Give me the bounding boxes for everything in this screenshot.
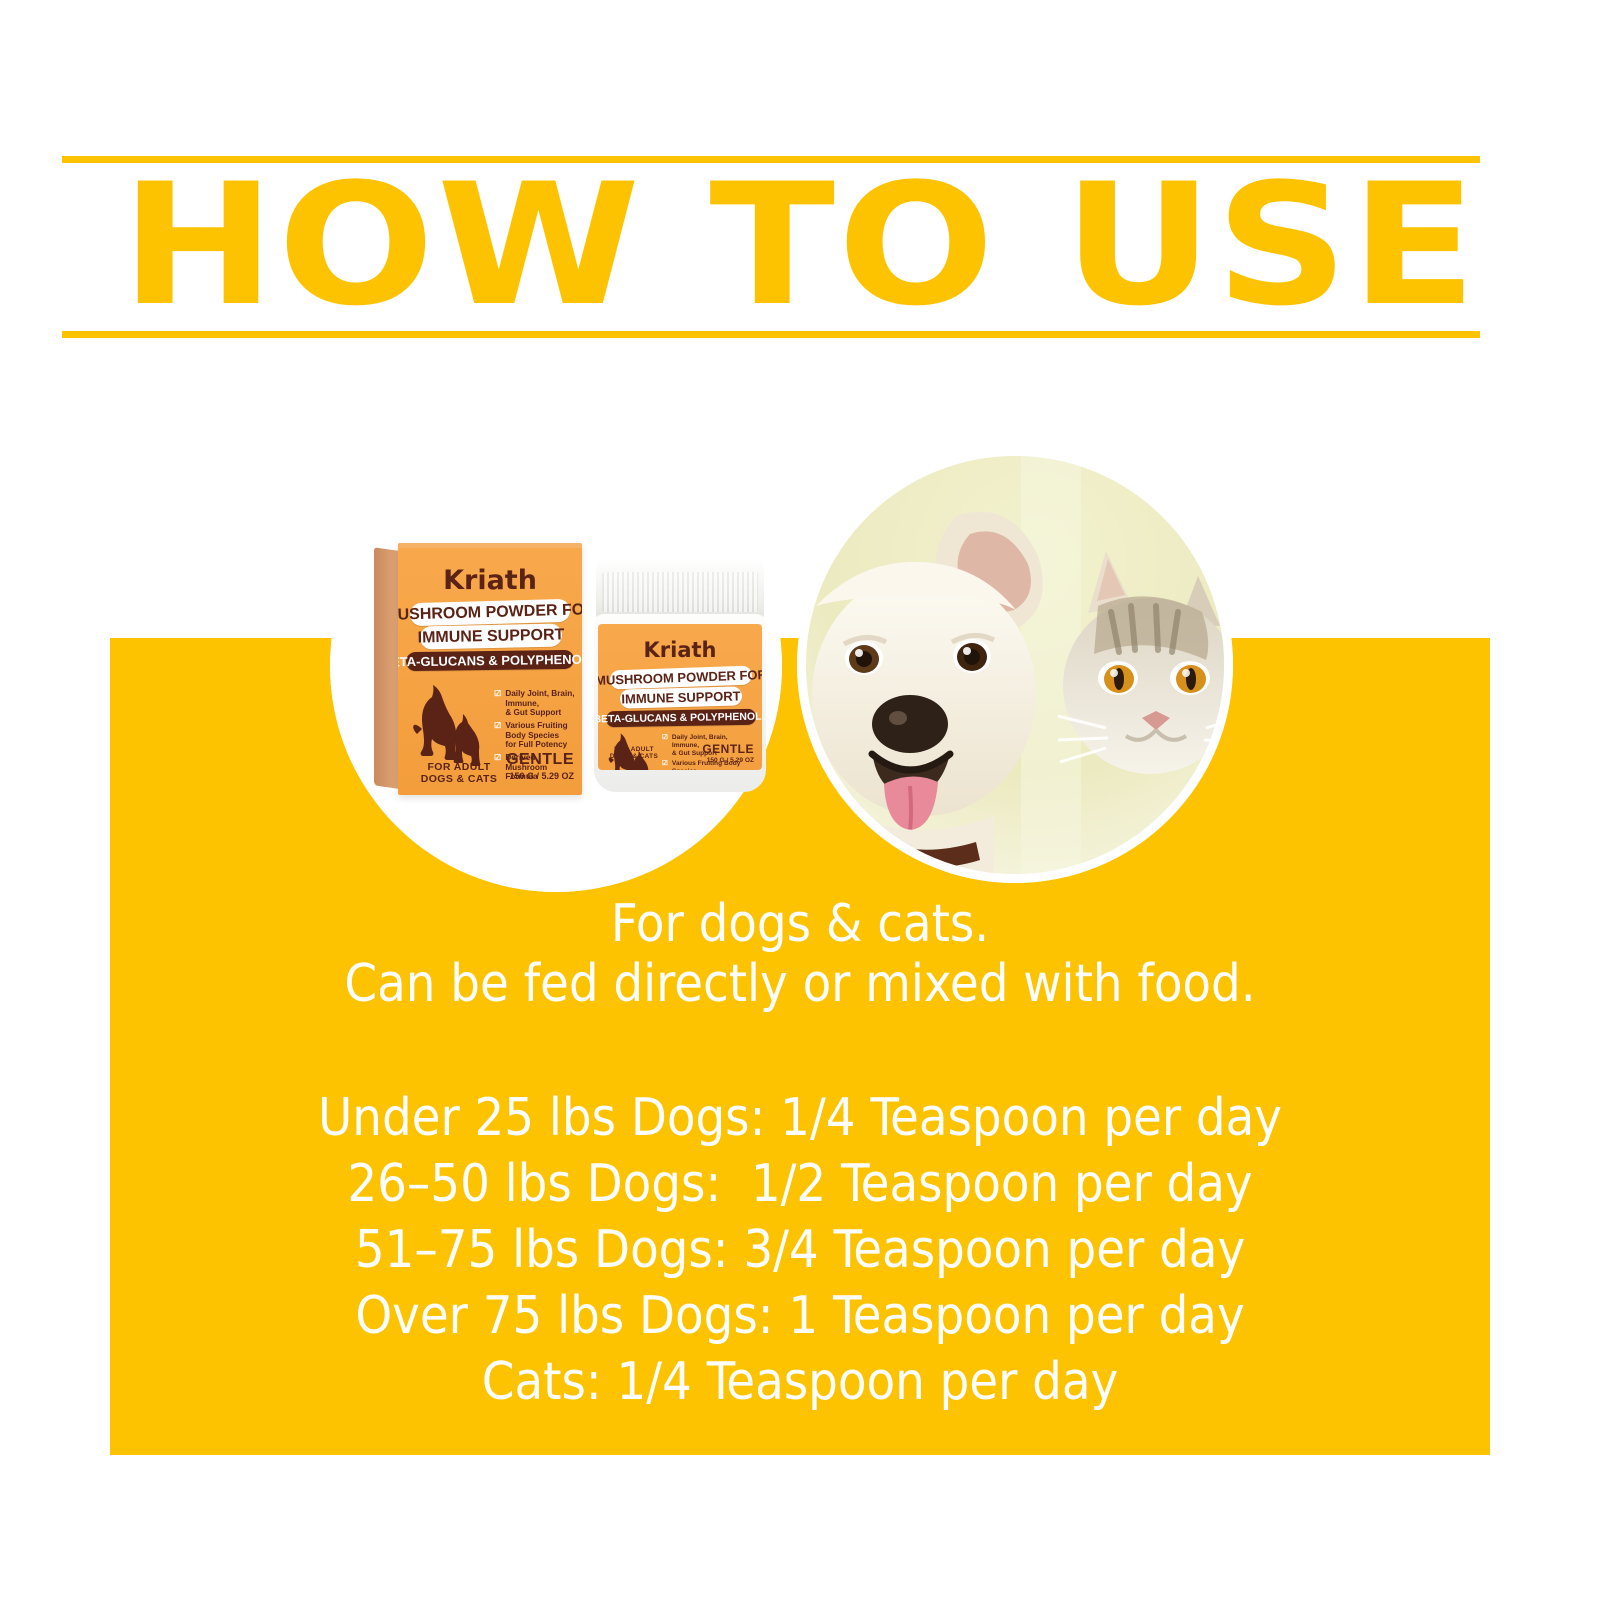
- box-net-weight: 150 G / 5.29 OZ: [482, 771, 574, 781]
- jar-gentle-badge: GENTLE: [670, 742, 754, 756]
- jar-brand-name: Kriath: [598, 638, 762, 662]
- dosage-item-2: 51–75 lbs Dogs: 3/4 Teaspoon per day: [110, 1217, 1490, 1283]
- product-box: Kriath MUSHROOM POWDER FOR IMMUNE SUPPOR…: [374, 543, 582, 795]
- how-to-use-infographic: HOW TO USE Kriath MUSHROOM POWDER FOR: [0, 0, 1600, 1600]
- jar-audience-text: FOR ADULT DOGS & CATS: [606, 746, 662, 761]
- product-jar: Kriath MUSHROOM POWDER FOR IMMUNE SUPPOR…: [594, 558, 766, 792]
- checkbox-icon: ☑: [494, 721, 501, 750]
- jar-headline-line2: IMMUNE SUPPORT: [620, 686, 742, 708]
- dosage-item-4: Cats: 1/4 Teaspoon per day: [110, 1349, 1490, 1415]
- box-side-panel: [374, 547, 400, 789]
- checkbox-icon: ☑: [494, 689, 501, 718]
- dosage-list: Under 25 lbs Dogs: 1/4 Teaspoon per day …: [110, 1085, 1490, 1415]
- jar-subheadline: BETA-GLUCANS & POLYPHENOLS: [606, 709, 756, 728]
- jar-net-weight: 150 G / 5.29 OZ: [670, 757, 754, 764]
- box-subheadline: BETA-GLUCANS & POLYPHENOLS: [406, 650, 574, 671]
- box-bullet-0: ☑Daily Joint, Brain, Immune, & Gut Suppo…: [494, 689, 578, 718]
- box-headline-line1: MUSHROOM POWDER FOR: [410, 599, 571, 626]
- box-headline-line2: IMMUNE SUPPORT: [420, 624, 562, 650]
- box-front-face: Kriath MUSHROOM POWDER FOR IMMUNE SUPPOR…: [398, 543, 582, 795]
- box-gentle-badge: GENTLE: [482, 751, 574, 769]
- box-bullet-1: ☑Various Fruiting Body Species for Full …: [494, 721, 578, 750]
- dosage-item-3: Over 75 lbs Dogs: 1 Teaspoon per day: [110, 1283, 1490, 1349]
- pets-illustration: [806, 456, 1224, 874]
- dosage-item-0: Under 25 lbs Dogs: 1/4 Teaspoon per day: [110, 1085, 1490, 1151]
- box-top-edge: [398, 543, 582, 548]
- dosage-item-1: 26–50 lbs Dogs: 1/2 Teaspoon per day: [110, 1151, 1490, 1217]
- checkbox-icon: ☑: [662, 734, 668, 757]
- checkbox-icon: ☑: [662, 760, 668, 770]
- jar-lid: [596, 558, 764, 620]
- dog-and-cat-photo: [806, 456, 1224, 874]
- intro-line-1: For dogs & cats.: [110, 895, 1490, 953]
- intro-line-2: Can be fed directly or mixed with food.: [110, 955, 1490, 1013]
- box-brand-name: Kriath: [398, 565, 582, 596]
- jar-label: Kriath MUSHROOM POWDER FOR IMMUNE SUPPOR…: [598, 624, 762, 770]
